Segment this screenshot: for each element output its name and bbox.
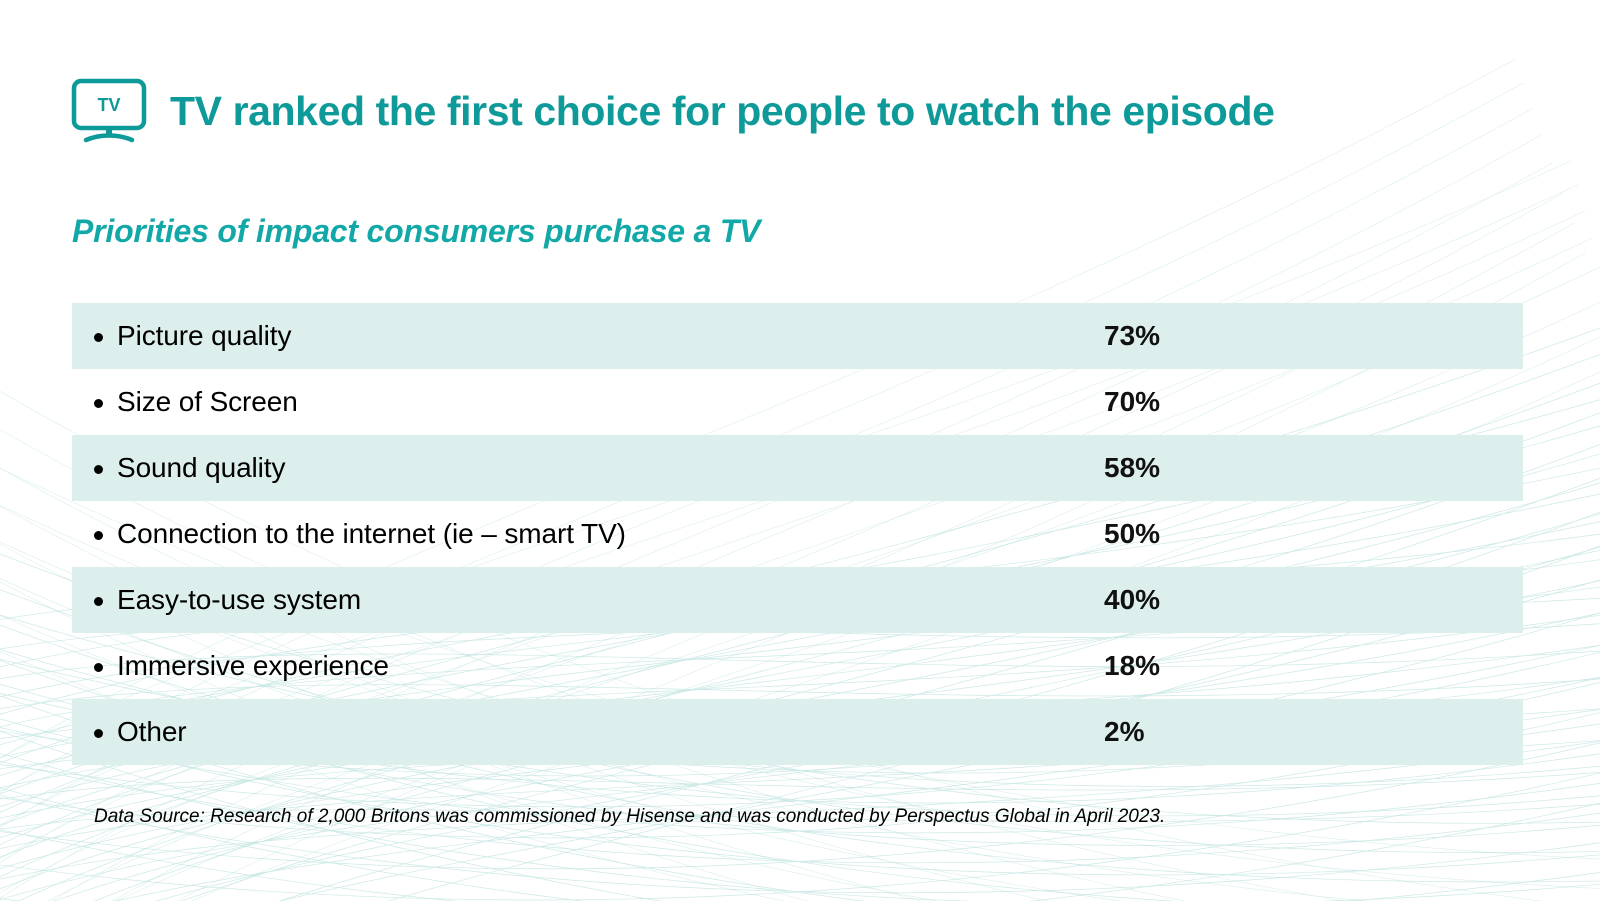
bullet-icon — [94, 729, 103, 738]
row-value: 40% — [1104, 586, 1160, 614]
table-row: Connection to the internet (ie – smart T… — [72, 501, 1523, 567]
row-label: Picture quality — [72, 322, 291, 350]
table-row: Other2% — [72, 699, 1523, 765]
tv-icon: TV — [70, 78, 148, 144]
row-value: 2% — [1104, 718, 1144, 746]
table-row: Size of Screen70% — [72, 369, 1523, 435]
slide-canvas: TV TV ranked the first choice for people… — [0, 0, 1600, 901]
row-value: 58% — [1104, 454, 1160, 482]
page-title: TV ranked the first choice for people to… — [170, 91, 1275, 132]
row-label-text: Immersive experience — [117, 652, 389, 680]
row-value: 18% — [1104, 652, 1160, 680]
row-label: Connection to the internet (ie – smart T… — [72, 520, 626, 548]
header: TV TV ranked the first choice for people… — [70, 78, 1275, 144]
row-value: 70% — [1104, 388, 1160, 416]
row-label: Size of Screen — [72, 388, 298, 416]
bullet-icon — [94, 597, 103, 606]
row-label-text: Other — [117, 718, 187, 746]
data-source-note: Data Source: Research of 2,000 Britons w… — [94, 805, 1165, 830]
priorities-table: Picture quality73%Size of Screen70%Sound… — [72, 303, 1523, 765]
subtitle: Priorities of impact consumers purchase … — [72, 212, 760, 250]
row-label-text: Easy-to-use system — [117, 586, 361, 614]
row-label: Easy-to-use system — [72, 586, 361, 614]
row-label-text: Picture quality — [117, 322, 291, 350]
tv-icon-label: TV — [97, 95, 120, 115]
row-label-text: Connection to the internet (ie – smart T… — [117, 520, 626, 548]
row-label: Sound quality — [72, 454, 285, 482]
bullet-icon — [94, 531, 103, 540]
table-row: Easy-to-use system40% — [72, 567, 1523, 633]
row-label-text: Sound quality — [117, 454, 285, 482]
row-value: 73% — [1104, 322, 1160, 350]
bullet-icon — [94, 333, 103, 342]
bullet-icon — [94, 465, 103, 474]
table-row: Sound quality58% — [72, 435, 1523, 501]
bullet-icon — [94, 663, 103, 672]
row-label: Immersive experience — [72, 652, 389, 680]
row-label: Other — [72, 718, 187, 746]
row-value: 50% — [1104, 520, 1160, 548]
bullet-icon — [94, 399, 103, 408]
table-row: Picture quality73% — [72, 303, 1523, 369]
table-row: Immersive experience18% — [72, 633, 1523, 699]
row-label-text: Size of Screen — [117, 388, 298, 416]
